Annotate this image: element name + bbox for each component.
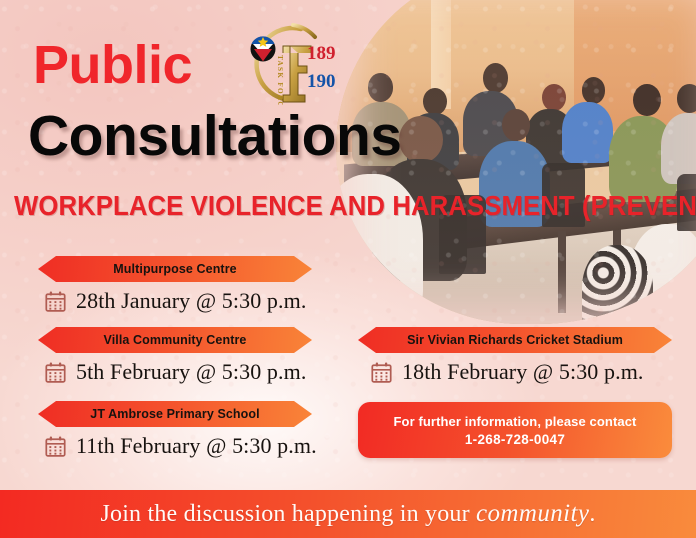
event-block-0: Multipurpose Centre 28th January @ 5:30 … [38, 256, 312, 314]
event-dateline: 28th January @ 5:30 p.m. [38, 288, 312, 314]
calendar-icon [44, 435, 67, 458]
footer-text: Join the discussion happening in your co… [100, 500, 595, 528]
venue-banner[interactable]: Villa Community Centre [38, 327, 312, 353]
page-title-line1: Public [33, 38, 192, 92]
venue-banner[interactable]: Multipurpose Centre [38, 256, 312, 282]
event-block-2: JT Ambrose Primary School 11th February … [38, 401, 312, 459]
calendar-icon [44, 290, 67, 313]
contact-box[interactable]: For further information, please contact … [358, 402, 672, 458]
event-date: 18th February @ 5:30 p.m. [402, 359, 644, 385]
contact-label: For further information, please contact [394, 414, 637, 429]
event-block-1: Villa Community Centre 5th February @ 5:… [38, 327, 312, 385]
footer-text-before: Join the discussion happening in your [100, 501, 476, 527]
venue-label: JT Ambrose Primary School [90, 407, 259, 421]
bill-subtitle: WORKPLACE VIOLENCE AND HARASSMENT (PREVE… [14, 192, 648, 220]
flag-roundel [251, 36, 276, 61]
calendar-icon [370, 361, 393, 384]
page-title-line2: Consultations [28, 108, 402, 165]
venue-label: Sir Vivian Richards Cricket Stadium [407, 333, 623, 347]
event-dateline: 5th February @ 5:30 p.m. [38, 359, 312, 385]
footer-bar: Join the discussion happening in your co… [0, 490, 696, 538]
footer-script-word: community [476, 500, 589, 527]
venue-banner[interactable]: Sir Vivian Richards Cricket Stadium [358, 327, 672, 353]
event-dateline: 18th February @ 5:30 p.m. [358, 359, 672, 385]
event-date: 5th February @ 5:30 p.m. [76, 359, 306, 385]
event-dateline: 11th February @ 5:30 p.m. [38, 433, 312, 459]
venue-banner[interactable]: JT Ambrose Primary School [38, 401, 312, 427]
task-force-logo: TASK FORCE 189 190 [231, 23, 335, 105]
svg-text:189: 189 [307, 43, 335, 64]
svg-text:TASK FORCE: TASK FORCE [276, 55, 284, 105]
event-date: 11th February @ 5:30 p.m. [76, 433, 317, 459]
calendar-icon [44, 361, 67, 384]
footer-text-after: . [589, 501, 595, 527]
contact-phone[interactable]: 1-268-728-0047 [465, 432, 565, 447]
event-date: 28th January @ 5:30 p.m. [76, 288, 306, 314]
venue-label: Villa Community Centre [104, 333, 247, 347]
poster-canvas: Public Consultations WORKPLACE VIOLENCE … [0, 0, 696, 538]
event-block-3: Sir Vivian Richards Cricket Stadium 18th… [358, 327, 672, 385]
venue-label: Multipurpose Centre [113, 262, 236, 276]
svg-text:190: 190 [307, 71, 335, 92]
